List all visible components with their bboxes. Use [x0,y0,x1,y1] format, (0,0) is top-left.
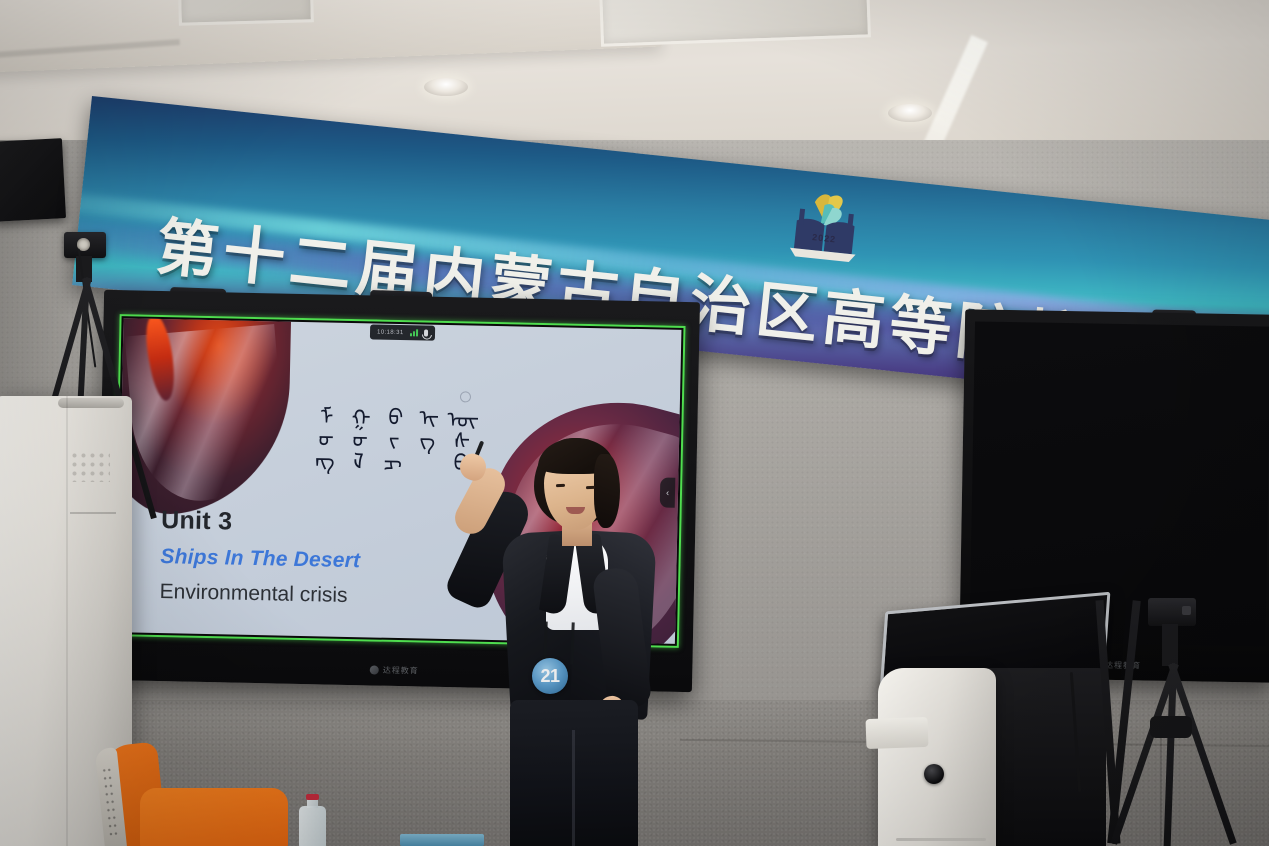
tripod-hub [1150,716,1192,738]
purifier-brand-mark-icon [70,452,110,482]
mongolian-script-block: ᠮᠣᠩ ᠭᠣᠯ ᠪᠢᠴ ᠢᠭ ᠦᠰᠦ [310,404,466,473]
lectern-body-rear [986,668,1106,846]
presenter-hair-side [594,454,620,528]
camera-icon [1148,598,1196,626]
lectern-knob[interactable] [924,764,944,784]
mongolian-column: ᠮᠣᠩ [310,404,329,470]
status-time: 10:18:31 [377,329,404,336]
slide-status-bar[interactable]: 10:18:31 [370,324,435,340]
chair-seat [140,788,288,846]
mongolian-column: ᠭᠣᠯ [344,405,363,471]
ceiling-downlight [888,104,932,122]
badge-number: 21 [540,666,559,687]
slide-unit-label: Unit 3 [161,506,233,536]
lectern-body-front [878,668,996,846]
presenter-eye [556,484,565,487]
signal-bars-icon [410,329,418,336]
ceiling-panel [599,0,871,47]
ceiling-soffit [0,0,661,73]
wall-speaker [0,138,66,222]
tripod-head [1162,624,1178,666]
tripod-camera-right [1128,598,1258,846]
purifier-seam [70,512,116,514]
blue-table-item [400,834,484,846]
lectern-vents [896,838,986,846]
purifier-seam [66,396,68,846]
presenter-trouser-seam [572,730,575,846]
camera-icon [64,232,106,258]
contestant-number-badge: 21 [532,658,568,694]
tripod-leg [1168,663,1236,845]
presenter: 21 [448,400,668,846]
slide-title: Ships In The Desert [160,545,360,573]
circle-mark-icon [370,665,379,674]
lectern-tray [865,717,928,749]
microphone-icon[interactable] [424,330,428,337]
ceiling-panel [177,0,314,26]
mongolian-column: ᠢᠭ [413,406,432,450]
presenter-eye [586,486,595,489]
banner-logo-icon: 2022 [779,185,872,270]
water-bottle [299,796,326,846]
main-display-brand: 达程教育 [370,664,419,676]
mongolian-column: ᠪᠢᠴ [378,405,397,471]
orange-chair [100,744,284,846]
brand-label: 达程教育 [383,665,419,677]
bottle-cap [306,794,319,800]
slide-subtitle: Environmental crisis [159,580,347,608]
photo-scene: 2022 第十二届内蒙古自治区高等院校青年教师教学 达程教育 ᠮᠣᠩ [0,0,1269,846]
bottle-body [299,806,326,846]
multimedia-lectern[interactable] [876,602,1108,846]
ceiling-downlight [424,78,468,96]
